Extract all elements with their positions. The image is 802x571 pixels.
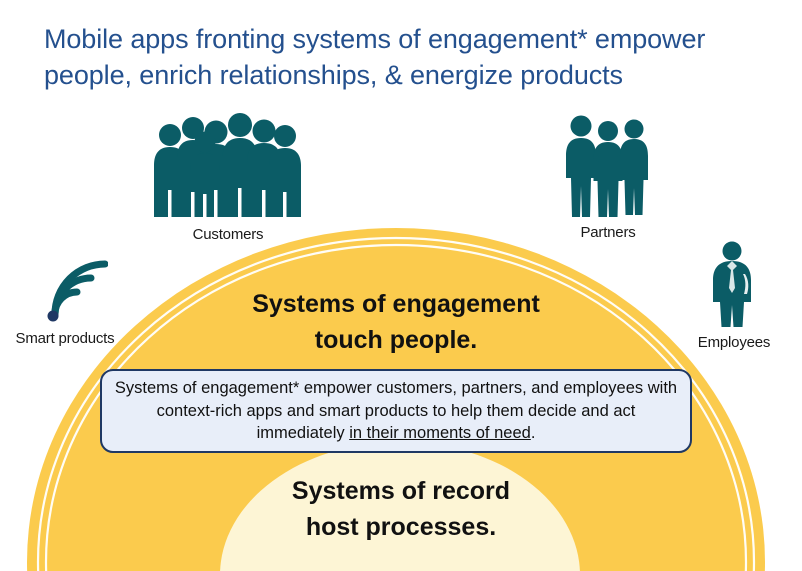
icon-group-partners: Partners xyxy=(546,112,670,241)
icon-label-smart-products: Smart products xyxy=(2,330,128,347)
callout-text-tail: . xyxy=(531,424,536,442)
icon-label-customers: Customers xyxy=(128,226,328,243)
callout-box: Systems of engagement* empower customers… xyxy=(100,369,692,453)
soe-line-1: Systems of engagement xyxy=(161,286,631,322)
soe-line-2: touch people. xyxy=(161,322,631,358)
sor-line-2: host processes. xyxy=(201,509,601,545)
icon-label-partners: Partners xyxy=(546,224,670,241)
systems-of-engagement-heading: Systems of engagement touch people. xyxy=(161,286,631,359)
smart-products-wifi-icon xyxy=(22,256,108,324)
icon-group-customers: Customers xyxy=(128,112,328,243)
customers-crowd-icon xyxy=(148,112,308,220)
slide-canvas: Mobile apps fronting systems of engageme… xyxy=(0,0,802,571)
callout-underlined-phrase: in their moments of need xyxy=(349,424,531,442)
icon-group-smart-products: Smart products xyxy=(2,256,128,347)
sor-line-1: Systems of record xyxy=(201,473,601,509)
icon-group-employees: Employees xyxy=(676,240,792,351)
systems-of-record-heading: Systems of record host processes. xyxy=(201,473,601,546)
callout-text: Systems of engagement* empower customers… xyxy=(114,377,678,444)
icon-label-employees: Employees xyxy=(676,334,792,351)
employee-businessman-icon xyxy=(698,240,770,328)
slide-title: Mobile apps fronting systems of engageme… xyxy=(44,22,784,93)
slide-title-line-2: people, enrich relationships, & energize… xyxy=(44,58,784,94)
slide-title-line-1: Mobile apps fronting systems of engageme… xyxy=(44,22,784,58)
partners-group-icon xyxy=(560,112,656,218)
